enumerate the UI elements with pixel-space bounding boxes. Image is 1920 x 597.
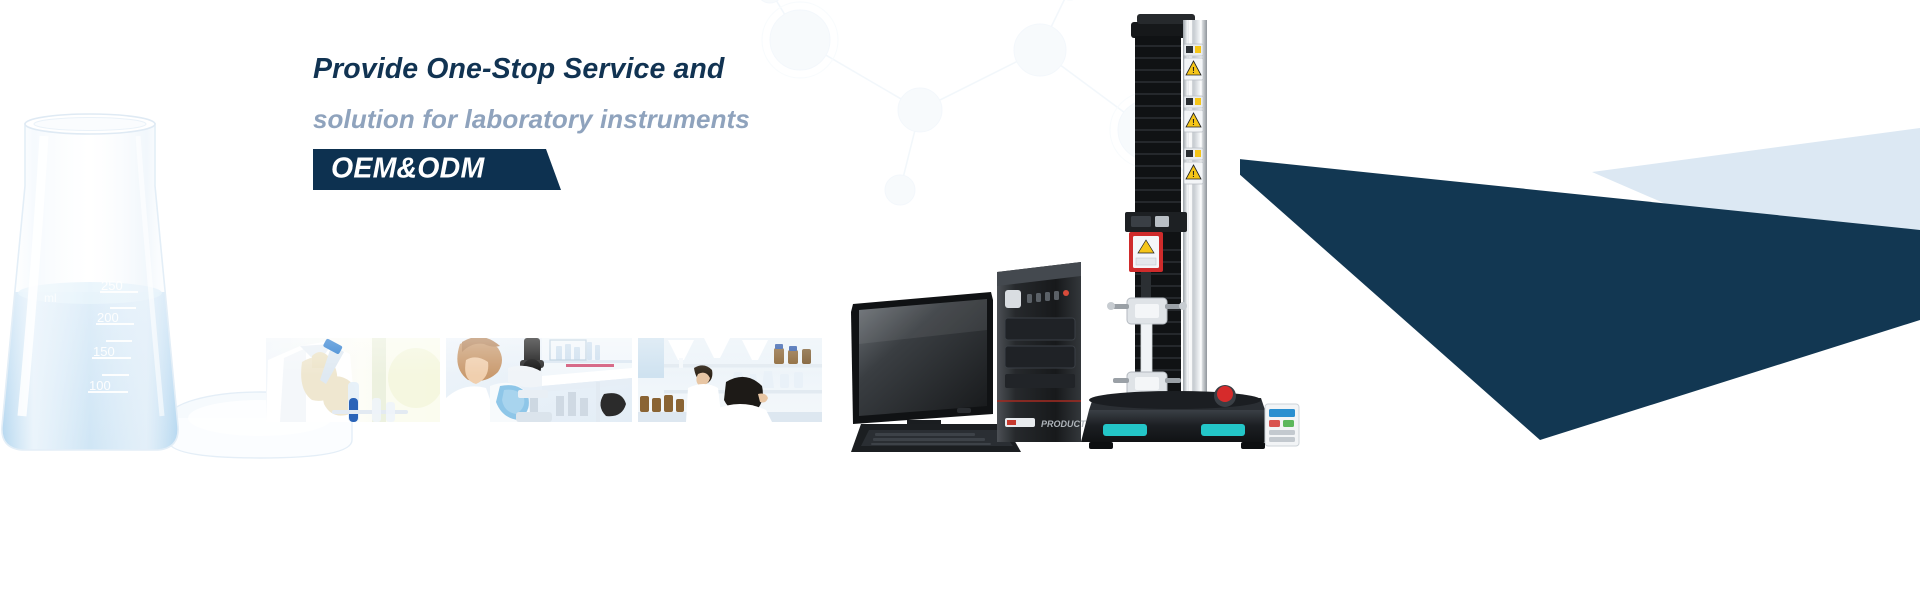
- warning-label-icon: !: [1184, 44, 1203, 80]
- computer-tower-shape: PRODUCT: [997, 262, 1087, 442]
- oem-odm-badge-label: OEM&ODM: [331, 153, 484, 186]
- svg-text:!: !: [1192, 66, 1195, 75]
- photo-pipetting: [266, 338, 440, 422]
- headline-line-2: solution for laboratory instruments: [313, 106, 933, 132]
- universal-testing-machine-shape: ! ! !: [1081, 14, 1299, 449]
- light-blue-arrow-icon: [1592, 128, 1920, 300]
- decorative-arrows: [1240, 0, 1920, 597]
- svg-text:!: !: [1192, 118, 1195, 127]
- headline-line-1: Provide One-Stop Service and: [313, 55, 933, 84]
- upper-grip: [1107, 298, 1187, 324]
- teal-accent-right: [1201, 424, 1245, 436]
- erlenmeyer-flask-shape: 250 200 150 100 ml: [0, 114, 192, 472]
- photo-microscope: [446, 338, 632, 422]
- svg-text:!: !: [1192, 170, 1195, 179]
- computer-monitor-shape: [851, 292, 993, 448]
- graduation-200: 200: [97, 310, 119, 325]
- headline-block: Provide One-Stop Service and solution fo…: [313, 55, 933, 195]
- warning-label-icon: !: [1184, 148, 1203, 184]
- graduation-250: 250: [101, 278, 123, 293]
- flask-unit-label: ml: [44, 291, 57, 305]
- graduation-100: 100: [89, 378, 111, 393]
- promo-banner: 250 200 150 100 ml Provide One-Stop Serv…: [0, 0, 1920, 597]
- teal-accent-left: [1103, 424, 1147, 436]
- warning-label-icon: !: [1184, 96, 1203, 132]
- tower-brand-label: PRODUCT: [1041, 419, 1087, 429]
- lower-grip: [1113, 372, 1181, 396]
- photo-lab-bench: [638, 338, 822, 422]
- computer-keyboard-shape: [851, 424, 1021, 452]
- dark-navy-arrow-icon: [1240, 157, 1920, 440]
- emergency-stop-button: [1217, 386, 1233, 402]
- lab-photo-strip: [266, 338, 822, 422]
- oem-odm-badge[interactable]: OEM&ODM: [313, 149, 561, 190]
- graduation-150: 150: [93, 344, 115, 359]
